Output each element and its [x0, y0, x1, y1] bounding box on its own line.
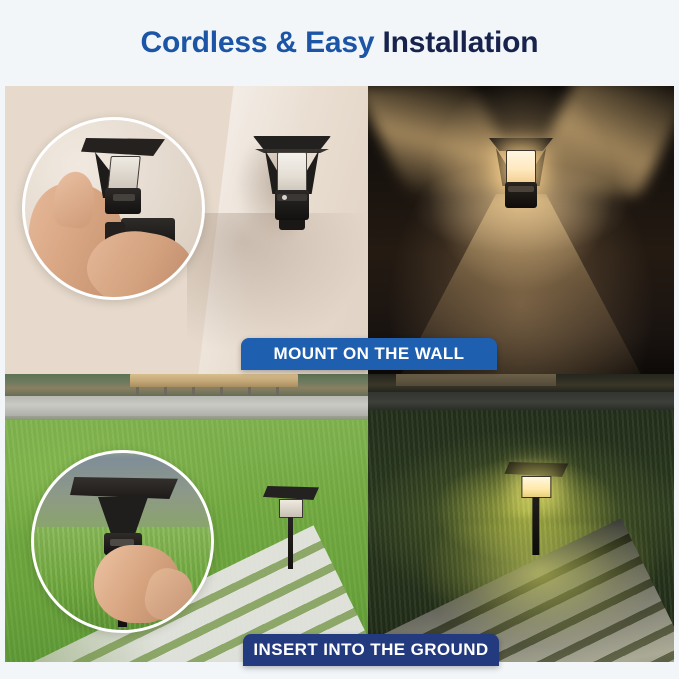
ground-stake-night-photo [368, 374, 674, 662]
stake-pole [288, 517, 293, 569]
inset-lamp-hood [81, 138, 165, 156]
night-stake-hood [504, 462, 568, 477]
title-word-easy: Easy [305, 26, 374, 59]
wall-lamp-illuminated [489, 138, 553, 216]
inset-lamp-body [105, 188, 141, 214]
inset-lamp-glass [107, 156, 141, 190]
hand-gripping-stake [94, 545, 180, 623]
night-stake-glass-lit [521, 476, 551, 498]
title-ampersand: & [275, 26, 296, 59]
header-banner: Cordless & Easy Installation [0, 0, 679, 86]
inset-lamp-unit [81, 138, 165, 222]
title-word-installation: Installation [382, 26, 538, 59]
ground-stake-lamp-illuminated [504, 462, 568, 558]
product-infographic: Cordless & Easy Installation [0, 0, 679, 679]
night-wooden-bench [396, 374, 556, 386]
stake-glass-panel [279, 499, 303, 518]
badge-insert-into-the-ground: INSERT INTO THE GROUND [243, 634, 499, 666]
wall-mount-daytime-photo [5, 86, 368, 374]
night-lamp-brand-band [508, 186, 534, 192]
title-word-cordless: Cordless [141, 26, 268, 59]
inset-stake-hood [70, 477, 178, 499]
night-stake-pole [532, 497, 539, 555]
background-road [5, 396, 368, 418]
ground-stake-lamp [263, 486, 319, 570]
inset-stake-neck [98, 497, 148, 537]
lamp-base-foot [279, 220, 305, 230]
lamp-glass-panel [277, 152, 307, 192]
stake-closeup-inset [31, 450, 214, 633]
wall-mounted-lamp [253, 136, 331, 236]
wooden-bench [130, 374, 298, 387]
night-background-road [368, 392, 674, 412]
installation-closeup-inset [22, 117, 205, 300]
stake-solar-hood [263, 486, 319, 500]
ground-stake-daytime-photo [5, 374, 368, 662]
page-title: Cordless & Easy Installation [141, 26, 539, 60]
brand-logo-icon [282, 195, 287, 200]
badge-mount-on-the-wall: MOUNT ON THE WALL [241, 338, 497, 370]
wall-mount-night-photo [368, 86, 674, 374]
inset-brand-logo-icon [113, 194, 135, 201]
night-lamp-glass-lit [506, 150, 536, 184]
photo-grid [5, 86, 674, 662]
